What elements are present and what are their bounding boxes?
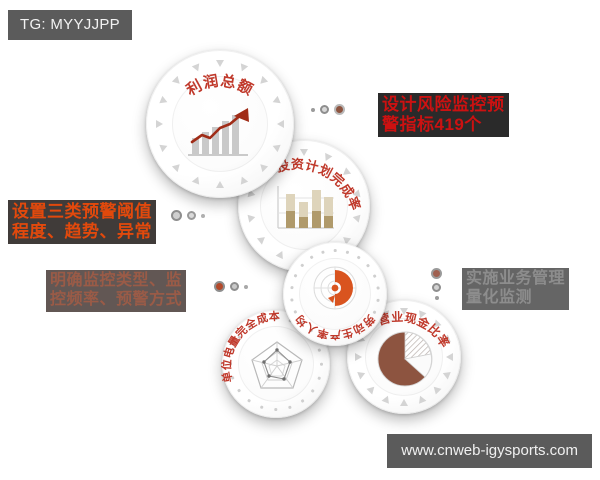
decor-dot	[311, 108, 315, 112]
bar-chart-uptrend-icon	[182, 102, 258, 160]
radar-signal-icon	[308, 262, 362, 314]
decor-dot	[201, 214, 205, 218]
radar-pentagon-chart-icon	[249, 338, 305, 392]
svg-text:利润总额: 利润总额	[183, 72, 257, 100]
decor-dot	[244, 285, 248, 289]
decor-dots-top	[311, 104, 345, 115]
plate-labor-productivity[interactable]: 劳动生产率人均	[283, 242, 387, 346]
decor-dot	[432, 283, 441, 292]
decor-dot	[187, 211, 196, 220]
decor-dots-left-lower	[214, 281, 248, 292]
annotation-business-quant-monitoring: 实施业务管理 量化监测	[462, 268, 569, 310]
decor-dot	[214, 281, 225, 292]
site-watermark: www.cnweb-igysports.com	[387, 434, 592, 468]
decor-dots-left-upper	[171, 210, 205, 221]
decor-dot	[334, 104, 345, 115]
decor-dot	[171, 210, 182, 221]
decor-dot	[230, 282, 239, 291]
plate-title-labor-productivity: 劳动生产率人均	[292, 312, 377, 342]
plate-title-profit-total: 利润总额	[183, 72, 257, 100]
decor-dots-right	[431, 268, 442, 300]
decor-dot	[320, 105, 329, 114]
svg-text:劳动生产率人均: 劳动生产率人均	[292, 312, 377, 342]
decor-dot	[431, 268, 442, 279]
plate-profit-total[interactable]: 利润总额	[146, 50, 294, 198]
annotation-risk-indicator-count: 设计风险监控预 警指标419个	[378, 93, 509, 137]
annotation-threshold-setting: 设置三类预警阈值 程度、趋势、异常	[8, 200, 156, 244]
tg-tag-label: TG: MYYJJPP	[8, 10, 132, 40]
annotation-monitor-type-frequency: 明确监控类型、监 控频率、预警方式	[46, 270, 186, 312]
infographic-canvas: 利润总额 投资计划完成率	[0, 0, 600, 480]
